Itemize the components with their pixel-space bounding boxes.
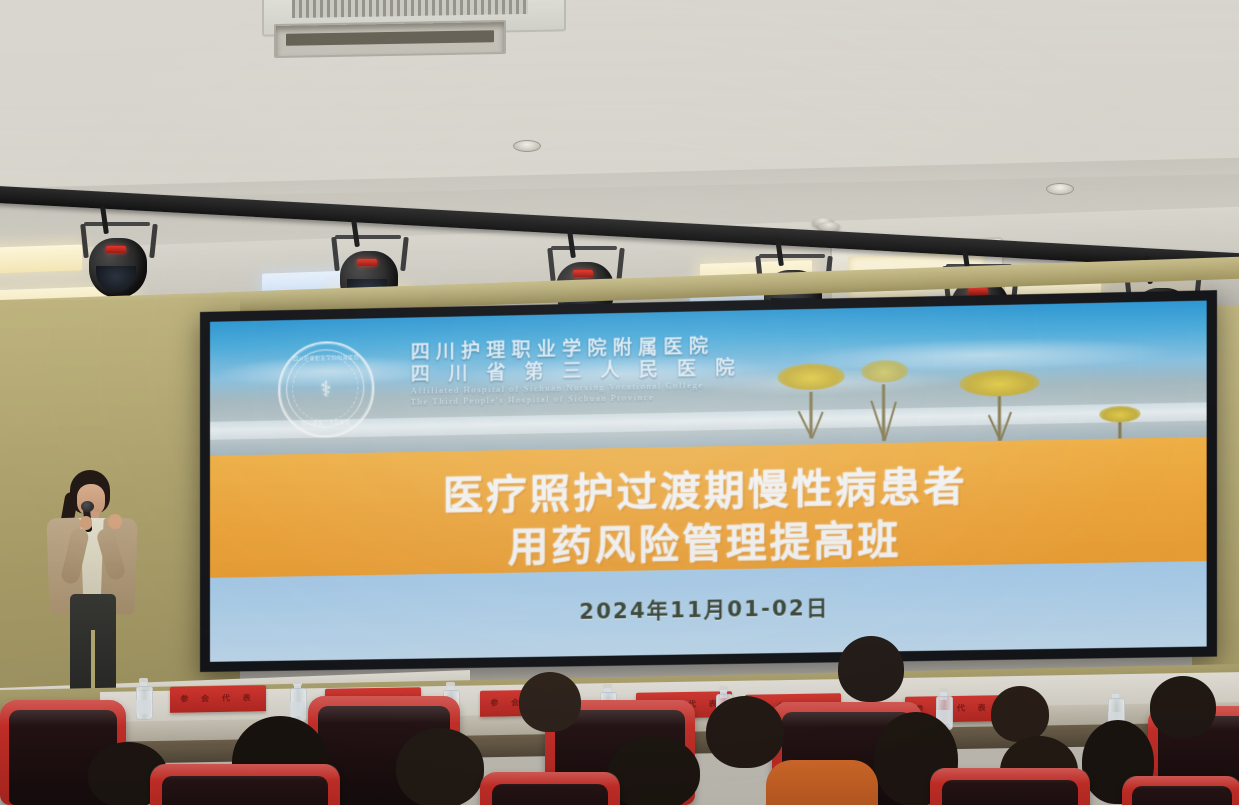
medical-cross-icon: ⚕ xyxy=(314,379,338,402)
ceiling-light-panel xyxy=(0,244,82,273)
presenter-hand-right xyxy=(108,514,122,529)
projected-slide: 四川护理职业学院附属医院 ⚕ 四川省第三人民医院 四川护理职业学院附属医院 四 … xyxy=(210,301,1207,662)
table-namecard: 参 会 代 表 xyxy=(170,685,266,713)
ceiling-speaker-icon xyxy=(513,140,541,152)
audience-person xyxy=(838,636,904,702)
slide-footer-band: 2024年11月01-02日 xyxy=(210,561,1207,662)
audience-person xyxy=(991,686,1049,742)
water-bottle xyxy=(136,678,151,720)
emblem-top-text: 四川护理职业学院附属医院 xyxy=(280,353,372,362)
ceiling-speaker-icon xyxy=(1046,183,1074,195)
audience-person xyxy=(608,736,700,805)
slide-date: 2024年11月01-02日 xyxy=(210,585,1207,631)
namecard-label: 参 会 代 表 xyxy=(170,692,266,705)
conference-photo-scene: 四川护理职业学院附属医院 ⚕ 四川省第三人民医院 四川护理职业学院附属医院 四 … xyxy=(0,0,1239,805)
ceiling-access-hatch xyxy=(274,20,506,58)
audience-person-orange-shirt xyxy=(766,760,878,805)
acacia-tree xyxy=(1097,406,1142,441)
water-bottle xyxy=(290,680,305,722)
audience-person xyxy=(1150,676,1216,738)
microphone-head-icon xyxy=(81,501,94,512)
hospital-emblem-icon: 四川护理职业学院附属医院 ⚕ 四川省第三人民医院 xyxy=(278,340,374,438)
projection-screen-frame: 四川护理职业学院附属医院 ⚕ 四川省第三人民医院 四川护理职业学院附属医院 四 … xyxy=(200,290,1217,672)
audience-person xyxy=(396,728,484,805)
audience-person xyxy=(519,672,581,732)
hospital-name-block: 四川护理职业学院附属医院 四 川 省 第 三 人 民 医 院 Affiliate… xyxy=(411,330,960,408)
slide-title-band: 医疗照护过渡期慢性病患者 用药风险管理提高班 xyxy=(210,437,1207,582)
acacia-tree xyxy=(959,369,1039,442)
presenter-hand-left xyxy=(80,516,92,530)
audience-person xyxy=(706,696,784,768)
